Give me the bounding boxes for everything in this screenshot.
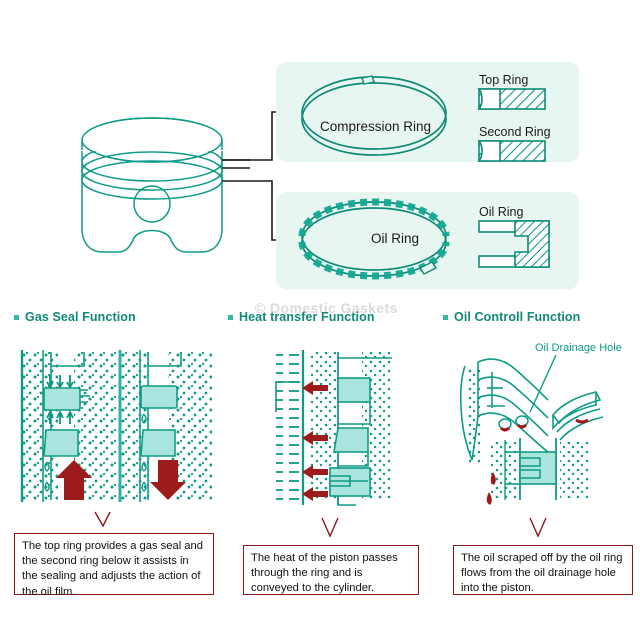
oil-control-caption: The oil scraped off by the oil ring flow… [453, 545, 633, 595]
oil-ring-segment-detail [553, 392, 603, 440]
diagram-canvas: Compression Ring Top Ring Second Ring Oi… [0, 0, 640, 640]
oil-caption-leader [530, 518, 546, 536]
oil-control-artwork [0, 0, 640, 640]
oil-ring-groove-section [490, 438, 588, 500]
oil-drainage-holes [499, 416, 528, 430]
drainage-leader-line [530, 355, 556, 412]
